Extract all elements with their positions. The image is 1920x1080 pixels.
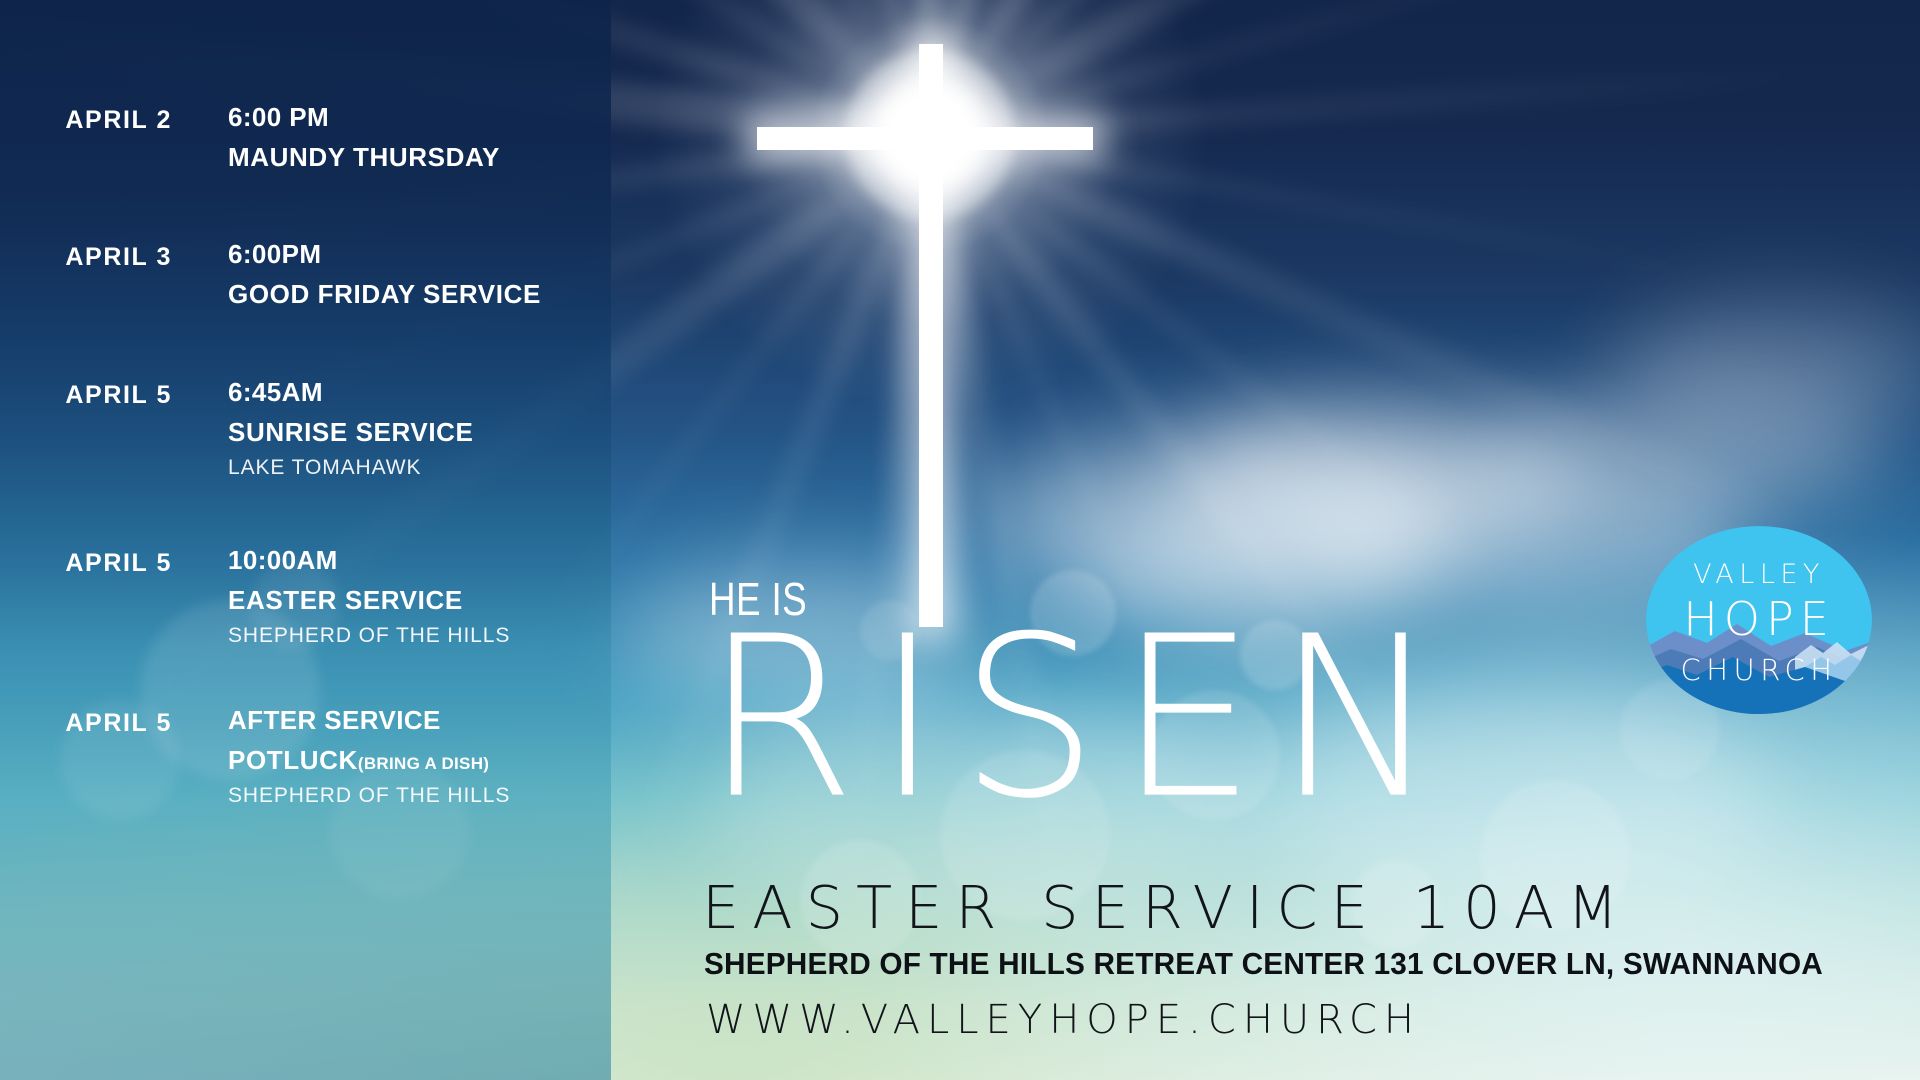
schedule-item-title: MAUNDY THURSDAY xyxy=(228,144,500,170)
schedule-item-location: LAKE TOMAHAWK xyxy=(228,457,473,478)
schedule-item-title: GOOD FRIDAY SERVICE xyxy=(228,281,541,307)
schedule-item-date: APRIL 3 xyxy=(0,243,172,272)
schedule-item-time: AFTER SERVICE xyxy=(228,707,510,733)
hero-headline: RISEN xyxy=(704,608,1459,830)
schedule-item-title: EASTER SERVICE xyxy=(228,587,510,613)
schedule-item-time: 6:00 PM xyxy=(228,104,500,130)
logo-line-2: HOPE xyxy=(1683,592,1835,646)
schedule-item-date: APRIL 5 xyxy=(0,709,172,738)
service-schedule-list: APRIL 2 6:00 PM MAUNDY THURSDAY APRIL 3 … xyxy=(0,0,611,1080)
cross-icon-horizontal-bar xyxy=(757,127,1093,150)
logo-line-3: CHURCH xyxy=(1680,653,1837,687)
valley-hope-church-logo[interactable]: VALLEY HOPE CHURCH xyxy=(1645,525,1873,715)
schedule-item-time: 6:00PM xyxy=(228,241,541,267)
schedule-item-date: APRIL 5 xyxy=(0,381,172,410)
schedule-item-body: AFTER SERVICE POTLUCK(BRING A DISH) SHEP… xyxy=(228,707,510,806)
easter-service-poster: APRIL 2 6:00 PM MAUNDY THURSDAY APRIL 3 … xyxy=(0,0,1920,1080)
schedule-item-date: APRIL 5 xyxy=(0,549,172,578)
schedule-item-body: 6:00PM GOOD FRIDAY SERVICE xyxy=(228,241,541,307)
schedule-item-date: APRIL 2 xyxy=(0,106,172,135)
service-time-line: EASTER SERVICE 10AM xyxy=(702,878,1631,937)
schedule-item-title: POTLUCK(BRING A DISH) xyxy=(228,747,510,773)
logo-line-1: VALLEY xyxy=(1693,559,1825,590)
schedule-item-location: SHEPHERD OF THE HILLS xyxy=(228,625,510,646)
schedule-item-body: 10:00AM EASTER SERVICE SHEPHERD OF THE H… xyxy=(228,547,510,646)
schedule-item-title: SUNRISE SERVICE xyxy=(228,419,473,445)
schedule-item-note: (BRING A DISH) xyxy=(358,754,489,773)
schedule-item-location: SHEPHERD OF THE HILLS xyxy=(228,785,510,806)
schedule-item-body: 6:00 PM MAUNDY THURSDAY xyxy=(228,104,500,170)
schedule-item-time: 6:45AM xyxy=(228,379,473,405)
schedule-item-body: 6:45AM SUNRISE SERVICE LAKE TOMAHAWK xyxy=(228,379,473,478)
schedule-item-time: 10:00AM xyxy=(228,547,510,573)
venue-address-line: SHEPHERD OF THE HILLS RETREAT CENTER 131… xyxy=(704,948,1823,979)
website-line: WWW.VALLEYHOPE.CHURCH xyxy=(706,1000,1421,1040)
